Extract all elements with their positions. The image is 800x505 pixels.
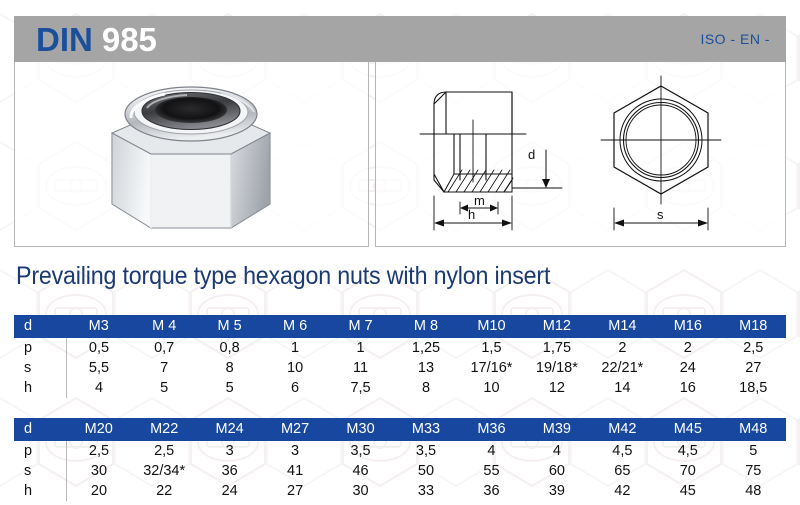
cell-value: 16 <box>655 378 720 398</box>
dimension-label-h: h <box>468 207 475 222</box>
header-cell-size: M48 <box>721 418 786 441</box>
cell-value: 2,5 <box>66 441 131 461</box>
cell-value: 2 <box>655 338 720 358</box>
cell-value: 24 <box>197 481 262 501</box>
cell-value: 1,5 <box>459 338 524 358</box>
cell-value: 5 <box>131 378 196 398</box>
cell-value: 1 <box>262 338 327 358</box>
cell-value: 11 <box>328 358 393 378</box>
header-cell-size: M10 <box>459 315 524 338</box>
cell-value: 0,5 <box>66 338 131 358</box>
cell-value: 60 <box>524 461 589 481</box>
cell-value: 7,5 <box>328 378 393 398</box>
cell-value: 33 <box>393 481 458 501</box>
cell-value: 0,7 <box>131 338 196 358</box>
table-row: s 30 32/34* 36 41 46 50 55 60 65 70 75 <box>14 461 786 481</box>
spec-sheet-page: DIN985 ISO - EN - <box>0 0 800 505</box>
cell-value: 1,25 <box>393 338 458 358</box>
cell-value: 19/18* <box>524 358 589 378</box>
cell-value: 17/16* <box>459 358 524 378</box>
dimension-label-s: s <box>657 207 664 222</box>
header-cell-size: M33 <box>393 418 458 441</box>
cell-value: 2 <box>590 338 655 358</box>
header-cell-size: M45 <box>655 418 720 441</box>
table-header-row: d M3 M 4 M 5 M 6 M 7 M 8 M10 M12 M14 M16… <box>14 315 786 338</box>
header-cell-size: M22 <box>131 418 196 441</box>
dimension-table-large-sizes: d M20 M22 M24 M27 M30 M33 M36 M39 M42 M4… <box>14 418 786 501</box>
header-cell-size: M12 <box>524 315 589 338</box>
cell-value: 75 <box>721 461 786 481</box>
cell-value: 22/21* <box>590 358 655 378</box>
header-cell-size: M3 <box>66 315 131 338</box>
standard-title: DIN985 <box>36 23 157 56</box>
standard-banner: DIN985 ISO - EN - <box>14 16 786 62</box>
product-photo-panel <box>14 62 369 247</box>
header-cell-size: M24 <box>197 418 262 441</box>
table-row: h 20 22 24 27 30 33 36 39 42 45 48 <box>14 481 786 501</box>
cell-value: 4,5 <box>590 441 655 461</box>
header-cell-size: M 4 <box>131 315 196 338</box>
cell-value: 18,5 <box>721 378 786 398</box>
dimension-label-d: d <box>528 147 535 162</box>
cell-value: 48 <box>721 481 786 501</box>
dimension-label-m: m <box>474 193 485 208</box>
cell-value: 1 <box>328 338 393 358</box>
standard-number: 985 <box>102 21 157 58</box>
cell-value: 14 <box>590 378 655 398</box>
table-header-row: d M20 M22 M24 M27 M30 M33 M36 M39 M42 M4… <box>14 418 786 441</box>
table-row: p 2,5 2,5 3 3 3,5 3,5 4 4 4,5 4,5 5 <box>14 441 786 461</box>
header-cell-size: M 8 <box>393 315 458 338</box>
header-cell-rowlabel: d <box>14 315 66 338</box>
header-cell-size: M14 <box>590 315 655 338</box>
cell-value: 3 <box>197 441 262 461</box>
row-label: h <box>14 378 66 398</box>
header-cell-size: M16 <box>655 315 720 338</box>
technical-drawing-panel: d m h s <box>375 62 786 247</box>
cell-value: 55 <box>459 461 524 481</box>
header-cell-size: M 7 <box>328 315 393 338</box>
header-cell-size: M36 <box>459 418 524 441</box>
cell-value: 5,5 <box>66 358 131 378</box>
cell-value: 30 <box>66 461 131 481</box>
nylon-lock-nut-photo <box>15 62 368 245</box>
header-cell-rowlabel: d <box>14 418 66 441</box>
cell-value: 27 <box>262 481 327 501</box>
cell-value: 4 <box>66 378 131 398</box>
cell-value: 45 <box>655 481 720 501</box>
cell-value: 8 <box>197 358 262 378</box>
header-cell-size: M27 <box>262 418 327 441</box>
row-label: s <box>14 358 66 378</box>
cell-value: 2,5 <box>131 441 196 461</box>
cell-value: 30 <box>328 481 393 501</box>
cell-value: 22 <box>131 481 196 501</box>
cell-value: 20 <box>66 481 131 501</box>
row-label: s <box>14 461 66 481</box>
standard-prefix: DIN <box>36 21 93 58</box>
cell-value: 0,8 <box>197 338 262 358</box>
table-row: p 0,5 0,7 0,8 1 1 1,25 1,5 1,75 2 2 2,5 <box>14 338 786 358</box>
row-label: p <box>14 338 66 358</box>
table-row: s 5,5 7 8 10 11 13 17/16* 19/18* 22/21* … <box>14 358 786 378</box>
table-row: h 4 5 5 6 7,5 8 10 12 14 16 18,5 <box>14 378 786 398</box>
header-cell-size: M30 <box>328 418 393 441</box>
cell-value: 8 <box>393 378 458 398</box>
cell-value: 36 <box>197 461 262 481</box>
norm-references: ISO - EN - <box>700 31 770 47</box>
header-cell-size: M 5 <box>197 315 262 338</box>
cell-value: 41 <box>262 461 327 481</box>
header-cell-size: M18 <box>721 315 786 338</box>
cell-value: 46 <box>328 461 393 481</box>
cell-value: 39 <box>524 481 589 501</box>
cell-value: 1,75 <box>524 338 589 358</box>
illustration-panels: d m h s <box>14 62 786 247</box>
cell-value: 3 <box>262 441 327 461</box>
cell-value: 7 <box>131 358 196 378</box>
cell-value: 5 <box>197 378 262 398</box>
cell-value: 10 <box>262 358 327 378</box>
dimensioned-drawing: d m h s <box>376 62 785 245</box>
cell-value: 50 <box>393 461 458 481</box>
cell-value: 12 <box>524 378 589 398</box>
header-cell-size: M20 <box>66 418 131 441</box>
header-cell-size: M 6 <box>262 315 327 338</box>
cell-value: 24 <box>655 358 720 378</box>
cell-value: 3,5 <box>393 441 458 461</box>
cell-value: 13 <box>393 358 458 378</box>
header-cell-size: M42 <box>590 418 655 441</box>
cell-value: 36 <box>459 481 524 501</box>
page-title: Prevailing torque type hexagon nuts with… <box>16 262 550 291</box>
dimension-table-small-sizes: d M3 M 4 M 5 M 6 M 7 M 8 M10 M12 M14 M16… <box>14 315 786 398</box>
cell-value: 65 <box>590 461 655 481</box>
cell-value: 4 <box>459 441 524 461</box>
cell-value: 3,5 <box>328 441 393 461</box>
cell-value: 32/34* <box>131 461 196 481</box>
cell-value: 70 <box>655 461 720 481</box>
cell-value: 42 <box>590 481 655 501</box>
cell-value: 10 <box>459 378 524 398</box>
cell-value: 2,5 <box>721 338 786 358</box>
cell-value: 4 <box>524 441 589 461</box>
row-label: p <box>14 441 66 461</box>
cell-value: 6 <box>262 378 327 398</box>
cell-value: 4,5 <box>655 441 720 461</box>
cell-value: 27 <box>721 358 786 378</box>
header-cell-size: M39 <box>524 418 589 441</box>
row-label: h <box>14 481 66 501</box>
cell-value: 5 <box>721 441 786 461</box>
